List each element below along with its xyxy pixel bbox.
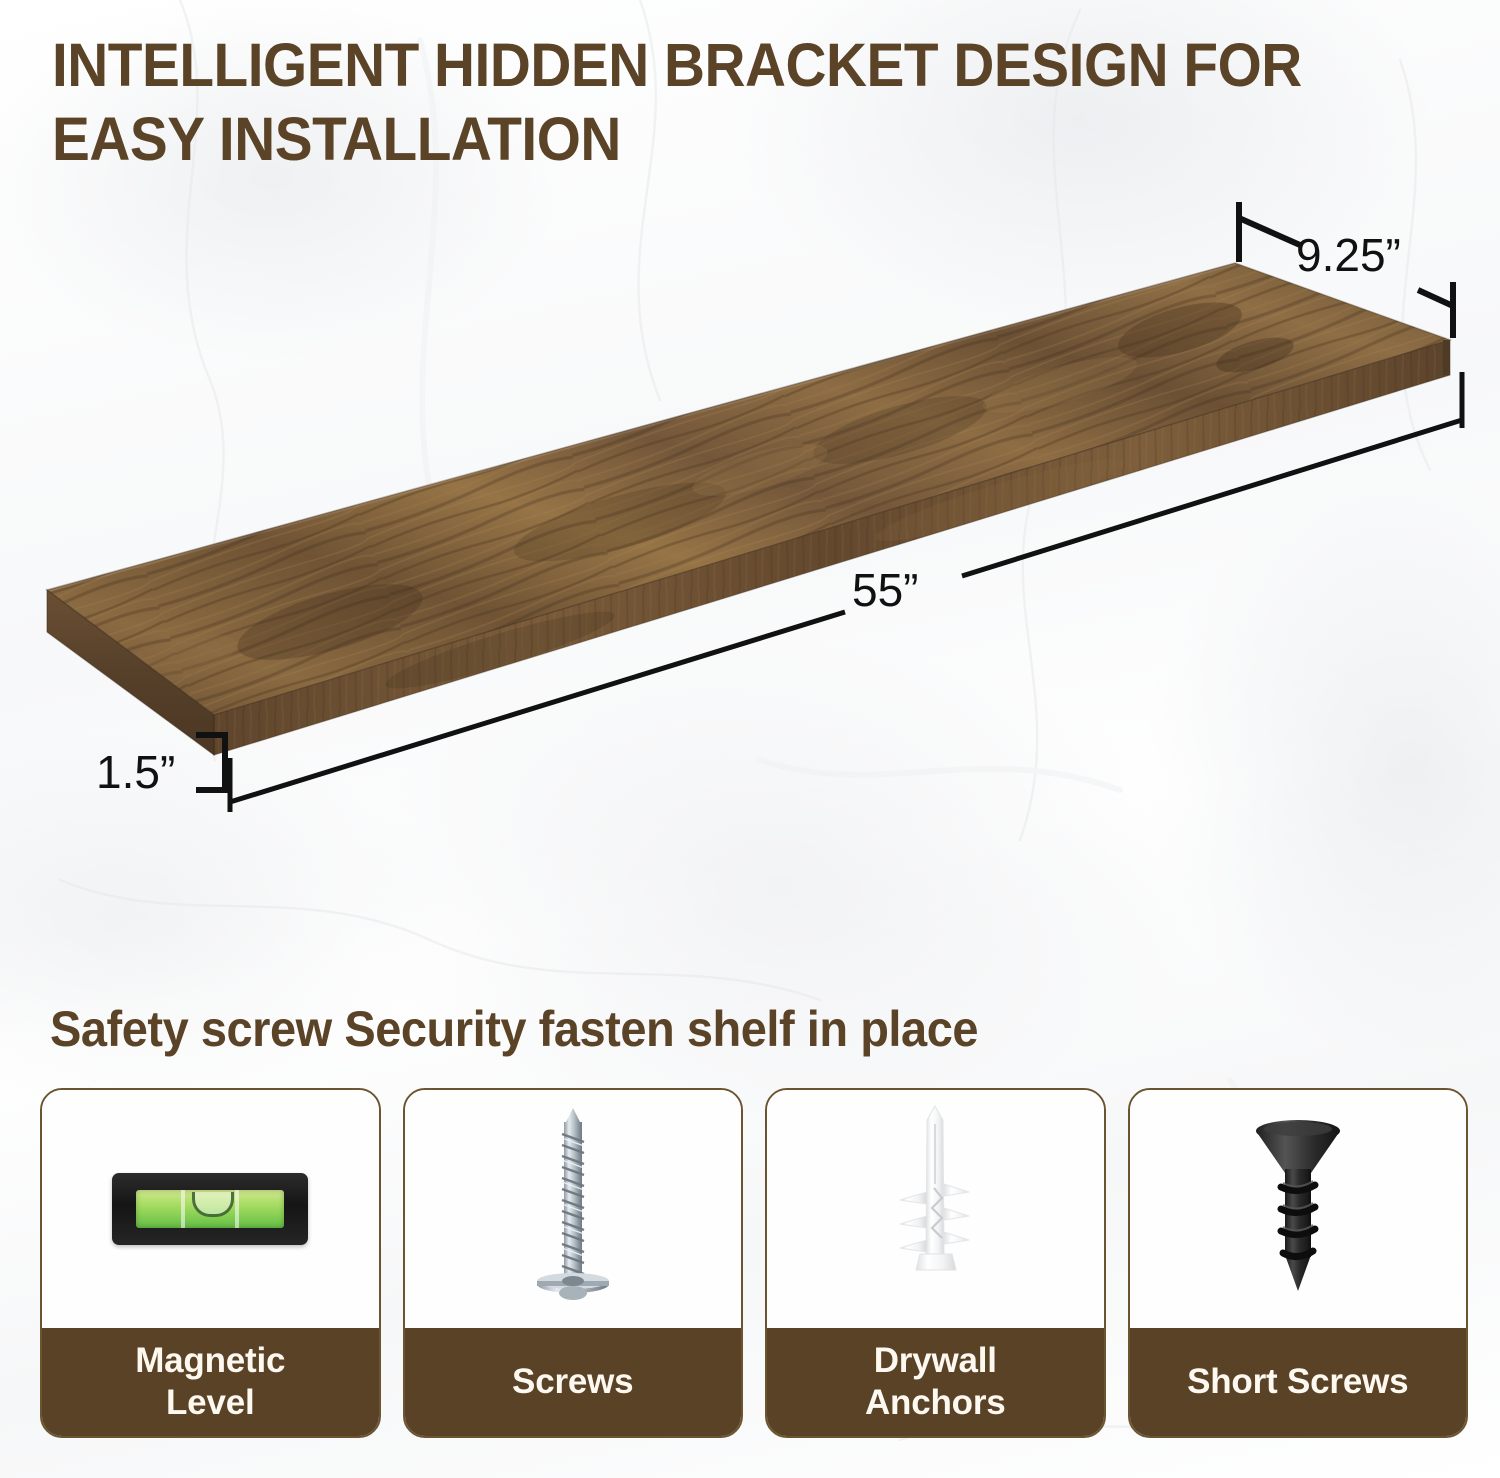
accessory-card-drywall-anchors[interactable]: Drywall Anchors — [765, 1088, 1106, 1438]
page-title: INTELLIGENT HIDDEN BRACKET DESIGN FOR EA… — [52, 28, 1373, 176]
screw-icon — [513, 1104, 633, 1314]
card-media — [405, 1090, 742, 1328]
card-label-screws: Screws — [405, 1328, 742, 1436]
card-media — [767, 1090, 1104, 1328]
dimension-label-depth: 9.25” — [1296, 228, 1401, 282]
card-media — [42, 1090, 379, 1328]
section-subtitle: Safety screw Security fasten shelf in pl… — [50, 1000, 1366, 1058]
shelf-board-svg — [0, 170, 1500, 810]
accessory-card-screws[interactable]: Screws — [403, 1088, 744, 1438]
shelf-board-illustration — [0, 170, 1500, 810]
magnetic-level-icon — [112, 1173, 308, 1245]
card-media — [1130, 1090, 1467, 1328]
card-label-drywall-anchors: Drywall Anchors — [767, 1328, 1104, 1436]
drywall-anchor-icon — [870, 1104, 1000, 1314]
short-screw-icon — [1233, 1109, 1363, 1309]
accessory-card-magnetic-level[interactable]: Magnetic Level — [40, 1088, 381, 1438]
accessory-card-short-screws[interactable]: Short Screws — [1128, 1088, 1469, 1438]
level-vial-window — [136, 1190, 284, 1228]
card-label-short-screws: Short Screws — [1130, 1328, 1467, 1436]
dimension-label-length: 55” — [852, 563, 918, 617]
accessory-card-row: Magnetic Level — [40, 1088, 1468, 1438]
dimension-label-thickness: 1.5” — [96, 745, 175, 799]
level-bubble — [192, 1192, 234, 1217]
card-label-magnetic-level: Magnetic Level — [42, 1328, 379, 1436]
